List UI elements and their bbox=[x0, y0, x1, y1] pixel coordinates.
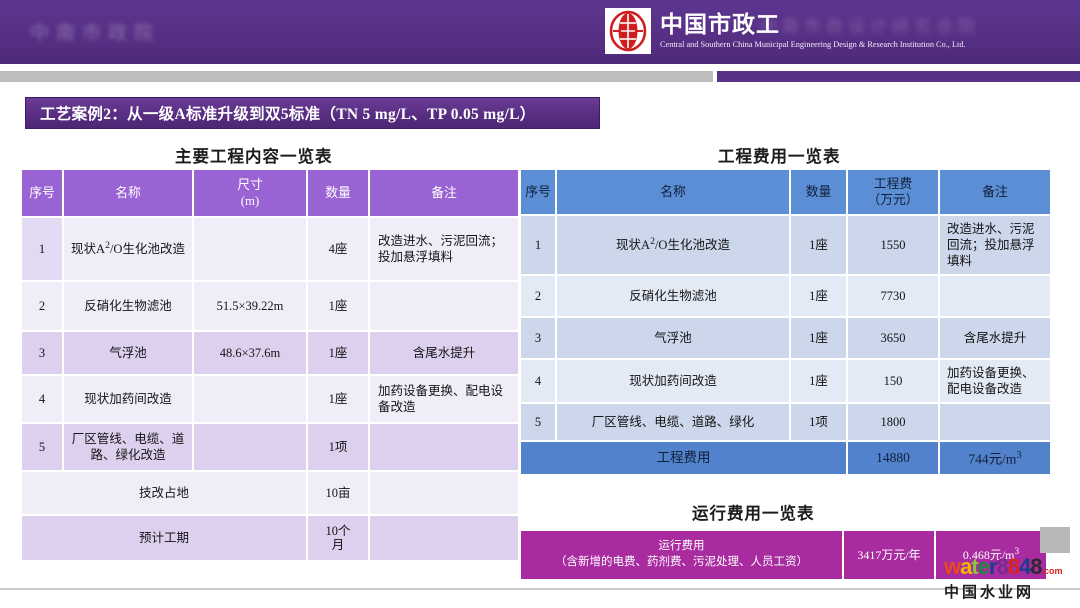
cell-name: 现状加药间改造 bbox=[64, 376, 192, 422]
logo-chinese-name: 中国市政工 bbox=[660, 12, 966, 37]
table-row: 2 反硝化生物滤池 51.5×39.22m 1座 bbox=[22, 282, 518, 330]
col-header-qty: 数量 bbox=[308, 170, 368, 216]
cell-qty: 1座 bbox=[791, 318, 846, 358]
works-table-caption: 主要工程内容一览表 bbox=[175, 143, 333, 167]
col-header-remark: 备注 bbox=[940, 170, 1050, 214]
cell-summary-qty: 10亩 bbox=[308, 472, 368, 514]
divider-bar-purple bbox=[717, 71, 1080, 82]
cell-remark bbox=[940, 404, 1050, 440]
table-row: 1 现状A2/O生化池改造 1座 1550 改造进水、污泥回流；投加悬浮填料 bbox=[521, 216, 1050, 274]
cell-qty: 1座 bbox=[791, 360, 846, 402]
col-header-no: 序号 bbox=[521, 170, 555, 214]
cell-name: 现状A2/O生化池改造 bbox=[64, 218, 192, 280]
col-header-cost-line1: 工程费 bbox=[852, 176, 934, 192]
cell-summary-remark bbox=[370, 516, 518, 560]
table-total-row: 工程费用 14880 744元/m3 bbox=[521, 442, 1050, 474]
company-logo: 中国市政工 Central and Southern China Municip… bbox=[605, 8, 966, 54]
cell-name: 反硝化生物滤池 bbox=[64, 282, 192, 330]
table-row: 运行费用 （含新增的电费、药剂费、污泥处理、人员工资） 3417万元/年 0.4… bbox=[521, 531, 1046, 579]
cell-cost: 1800 bbox=[848, 404, 938, 440]
cell-qty: 1项 bbox=[791, 404, 846, 440]
cell-total-unit-cost: 744元/m3 bbox=[940, 442, 1050, 474]
cell-dimension: 51.5×39.22m bbox=[194, 282, 306, 330]
watermark-box bbox=[1040, 527, 1070, 553]
col-header-name: 名称 bbox=[557, 170, 789, 214]
table-row: 1 现状A2/O生化池改造 4座 改造进水、污泥回流；投加悬浮填料 bbox=[22, 218, 518, 280]
cell-name: 厂区管线、电缆、道路、绿化 bbox=[557, 404, 789, 440]
cell-no: 5 bbox=[521, 404, 555, 440]
cell-qty: 1座 bbox=[308, 332, 368, 374]
slide-canvas: 中南市政院 中南市政设计研究总院 中国市政工 Central and South… bbox=[0, 0, 1080, 608]
cell-total-cost: 14880 bbox=[848, 442, 938, 474]
cell-dimension bbox=[194, 424, 306, 470]
cell-remark: 加药设备更换、配电设备改造 bbox=[940, 360, 1050, 402]
cell-name: 气浮池 bbox=[557, 318, 789, 358]
cell-cost: 150 bbox=[848, 360, 938, 402]
cell-remark: 加药设备更换、配电设备改造 bbox=[370, 376, 518, 422]
cell-remark bbox=[370, 424, 518, 470]
cost-table-caption: 工程费用一览表 bbox=[718, 143, 841, 167]
col-header-dimension-line1: 尺寸 bbox=[198, 177, 302, 193]
cell-name: 气浮池 bbox=[64, 332, 192, 374]
col-header-name: 名称 bbox=[64, 170, 192, 216]
cell-dimension bbox=[194, 218, 306, 280]
watermark-chinese: 中国水业网 bbox=[944, 581, 1080, 602]
cell-remark: 含尾水提升 bbox=[940, 318, 1050, 358]
cell-qty: 1座 bbox=[791, 216, 846, 274]
cell-summary-label: 预计工期 bbox=[22, 516, 306, 560]
cell-name: 现状A2/O生化池改造 bbox=[557, 216, 789, 274]
cell-remark bbox=[370, 282, 518, 330]
cell-running-label: 运行费用 （含新增的电费、药剂费、污泥处理、人员工资） bbox=[521, 531, 842, 579]
cell-no: 1 bbox=[521, 216, 555, 274]
table-summary-row: 技改占地 10亩 bbox=[22, 472, 518, 514]
cell-qty: 1项 bbox=[308, 424, 368, 470]
table-summary-row: 预计工期 10个月 bbox=[22, 516, 518, 560]
cell-summary-label: 技改占地 bbox=[22, 472, 306, 514]
footer-divider bbox=[0, 588, 1080, 590]
cell-remark: 改造进水、污泥回流；投加悬浮填料 bbox=[940, 216, 1050, 274]
cell-total-label: 工程费用 bbox=[521, 442, 846, 474]
works-table: 序号 名称 尺寸 (m) 数量 备注 1 现状A2/O生化池改造 4座 改造进水… bbox=[20, 168, 520, 562]
col-header-dimension-line2: (m) bbox=[198, 193, 302, 209]
cell-no: 2 bbox=[22, 282, 62, 330]
cell-qty: 1座 bbox=[308, 282, 368, 330]
cell-cost: 1550 bbox=[848, 216, 938, 274]
cell-remark: 含尾水提升 bbox=[370, 332, 518, 374]
cell-no: 3 bbox=[521, 318, 555, 358]
cell-no: 4 bbox=[521, 360, 555, 402]
table-row: 2 反硝化生物滤池 1座 7730 bbox=[521, 276, 1050, 316]
divider-bar-gray bbox=[0, 71, 713, 82]
table-row: 5 厂区管线、电缆、道路、绿化 1项 1800 bbox=[521, 404, 1050, 440]
header-ghost-text-left: 中南市政院 bbox=[30, 18, 360, 52]
col-header-cost: 工程费 （万元） bbox=[848, 170, 938, 214]
cell-no: 1 bbox=[22, 218, 62, 280]
cell-name: 厂区管线、电缆、道路、绿化改造 bbox=[64, 424, 192, 470]
cell-cost: 3650 bbox=[848, 318, 938, 358]
cell-remark: 改造进水、污泥回流；投加悬浮填料 bbox=[370, 218, 518, 280]
running-label-line1: 运行费用 bbox=[525, 539, 838, 555]
cell-remark bbox=[940, 276, 1050, 316]
cost-table: 序号 名称 数量 工程费 （万元） 备注 1 现状A2/O生化池改造 1座 15… bbox=[519, 168, 1052, 476]
cell-name: 现状加药间改造 bbox=[557, 360, 789, 402]
table-header-row: 序号 名称 数量 工程费 （万元） 备注 bbox=[521, 170, 1050, 214]
cell-no: 5 bbox=[22, 424, 62, 470]
col-header-no: 序号 bbox=[22, 170, 62, 216]
col-header-cost-line2: （万元） bbox=[852, 192, 934, 208]
circular-emblem-icon bbox=[605, 8, 651, 54]
running-label-line2: （含新增的电费、药剂费、污泥处理、人员工资） bbox=[525, 555, 838, 571]
cell-name: 反硝化生物滤池 bbox=[557, 276, 789, 316]
cell-qty: 4座 bbox=[308, 218, 368, 280]
table-row: 3 气浮池 1座 3650 含尾水提升 bbox=[521, 318, 1050, 358]
cell-summary-remark bbox=[370, 472, 518, 514]
header-band: 中南市政院 中南市政设计研究总院 中国市政工 Central and South… bbox=[0, 0, 1080, 64]
cell-cost: 7730 bbox=[848, 276, 938, 316]
running-table-caption: 运行费用一览表 bbox=[692, 500, 815, 524]
section-title: 工艺案例2：从一级A标准升级到双5标准（TN 5 mg/L、TP 0.05 mg… bbox=[25, 97, 600, 129]
table-row: 4 现状加药间改造 1座 150 加药设备更换、配电设备改造 bbox=[521, 360, 1050, 402]
table-row: 4 现状加药间改造 1座 加药设备更换、配电设备改造 bbox=[22, 376, 518, 422]
cell-running-unit: 0.468元/m3 bbox=[936, 531, 1046, 579]
cell-running-annual: 3417万元/年 bbox=[844, 531, 934, 579]
col-header-remark: 备注 bbox=[370, 170, 518, 216]
cell-no: 3 bbox=[22, 332, 62, 374]
cell-dimension bbox=[194, 376, 306, 422]
logo-english-name: Central and Southern China Municipal Eng… bbox=[660, 40, 966, 51]
col-header-qty: 数量 bbox=[791, 170, 846, 214]
col-header-dimension: 尺寸 (m) bbox=[194, 170, 306, 216]
table-row: 5 厂区管线、电缆、道路、绿化改造 1项 bbox=[22, 424, 518, 470]
table-row: 3 气浮池 48.6×37.6m 1座 含尾水提升 bbox=[22, 332, 518, 374]
cell-no: 2 bbox=[521, 276, 555, 316]
cell-qty: 1座 bbox=[791, 276, 846, 316]
running-cost-table: 运行费用 （含新增的电费、药剂费、污泥处理、人员工资） 3417万元/年 0.4… bbox=[519, 529, 1048, 581]
table-header-row: 序号 名称 尺寸 (m) 数量 备注 bbox=[22, 170, 518, 216]
cell-summary-qty: 10个月 bbox=[308, 516, 368, 560]
cell-dimension: 48.6×37.6m bbox=[194, 332, 306, 374]
cell-no: 4 bbox=[22, 376, 62, 422]
cell-qty: 1座 bbox=[308, 376, 368, 422]
